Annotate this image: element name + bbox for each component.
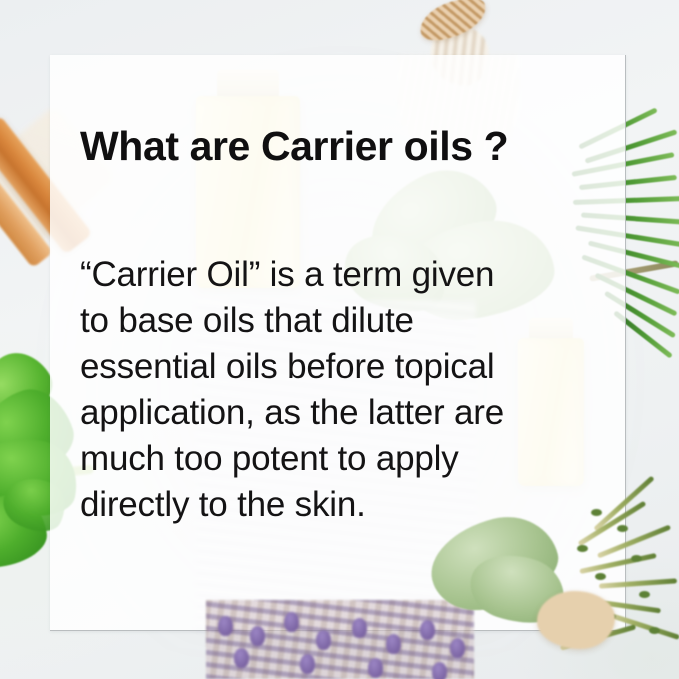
body-line: to base oils that dilute xyxy=(80,298,614,344)
lavender-flower-heads xyxy=(206,600,474,679)
twine-knot-icon xyxy=(537,591,615,649)
body-line: application, as the latter are xyxy=(80,390,614,436)
carrier-oils-infographic: What are Carrier oils ? “Carrier Oil” is… xyxy=(0,0,679,679)
page-title: What are Carrier oils ? xyxy=(80,125,508,168)
body-paragraph: “Carrier Oil” is a term given to base oi… xyxy=(80,252,614,528)
body-line: essential oils before topical xyxy=(80,344,614,390)
body-line: much too potent to apply xyxy=(80,436,614,482)
body-line: “Carrier Oil” is a term given xyxy=(80,252,614,298)
thyme-bundle-icon xyxy=(499,495,679,679)
